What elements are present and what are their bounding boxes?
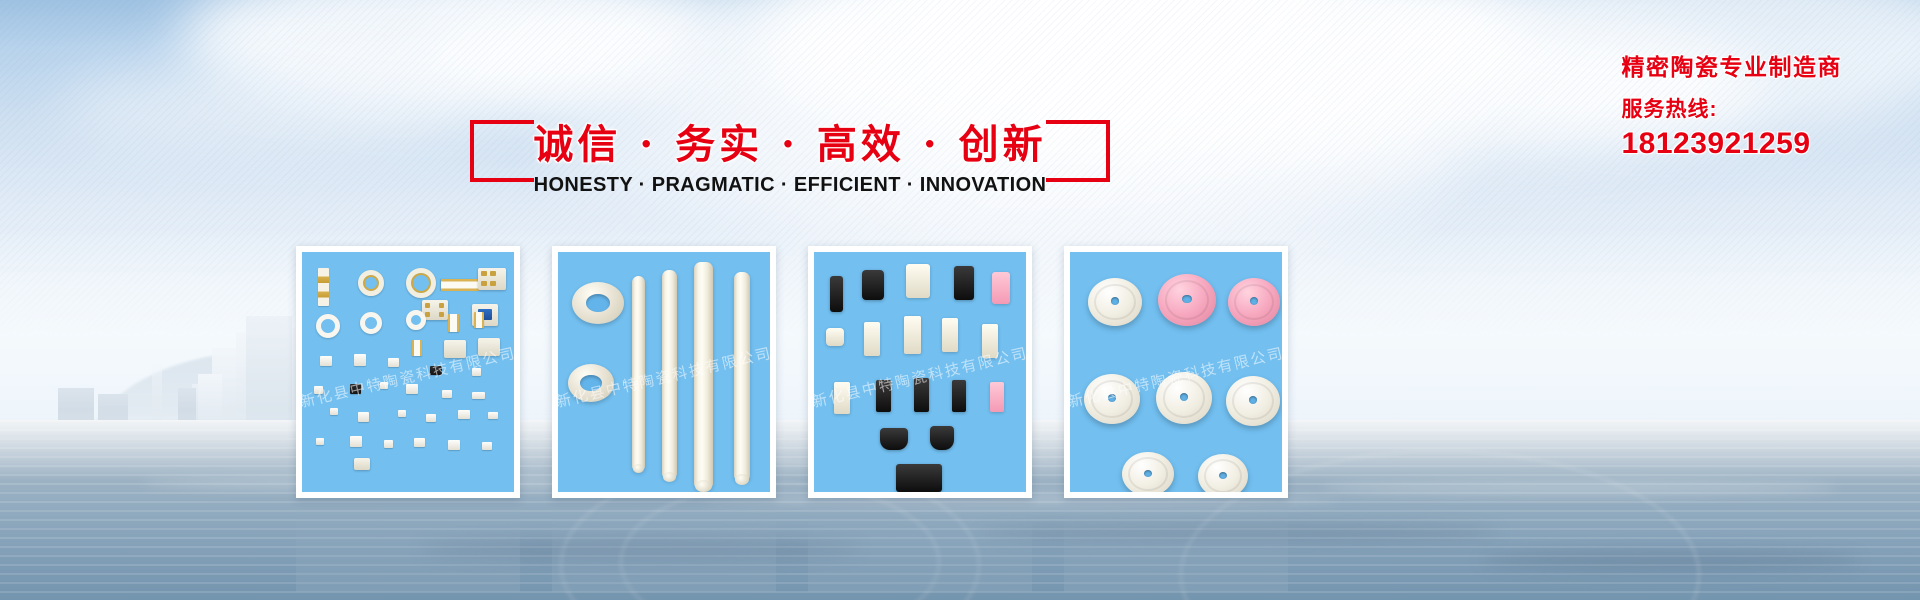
panel-ceramic-blocks[interactable]: 新化县中特陶瓷科技有限公司 [808, 246, 1032, 498]
panel-ceramic-rods-bushings[interactable]: 新化县中特陶瓷科技有限公司 [552, 246, 776, 498]
promotional-banner: 诚信 · 务实 · 高效 · 创新 HONESTY · PRAGMATIC · … [0, 0, 1920, 600]
company-tagline: 精密陶瓷专业制造商 [1622, 52, 1843, 82]
hotline-number[interactable]: 18123921259 [1622, 126, 1843, 162]
slogan-english: HONESTY · PRAGMATIC · EFFICIENT · INNOVA… [470, 174, 1110, 197]
slogan-chinese: 诚信 · 务实 · 高效 · 创新 [470, 116, 1110, 174]
panel-ceramic-discs-nozzles[interactable]: 新化县中特陶瓷科技有限公司 [1064, 246, 1288, 498]
panel-smd-ceramic-chips[interactable]: 新化县中特陶瓷科技有限公司 [296, 246, 520, 498]
product-panel-row: 新化县中特陶瓷科技有限公司 新化县中特陶瓷科技有限公司 [296, 246, 1528, 404]
hotline-label: 服务热线: [1622, 96, 1843, 124]
contact-block: 精密陶瓷专业制造商 服务热线: 18123921259 [1622, 52, 1843, 162]
slogan-block: 诚信 · 务实 · 高效 · 创新 HONESTY · PRAGMATIC · … [470, 108, 1110, 208]
